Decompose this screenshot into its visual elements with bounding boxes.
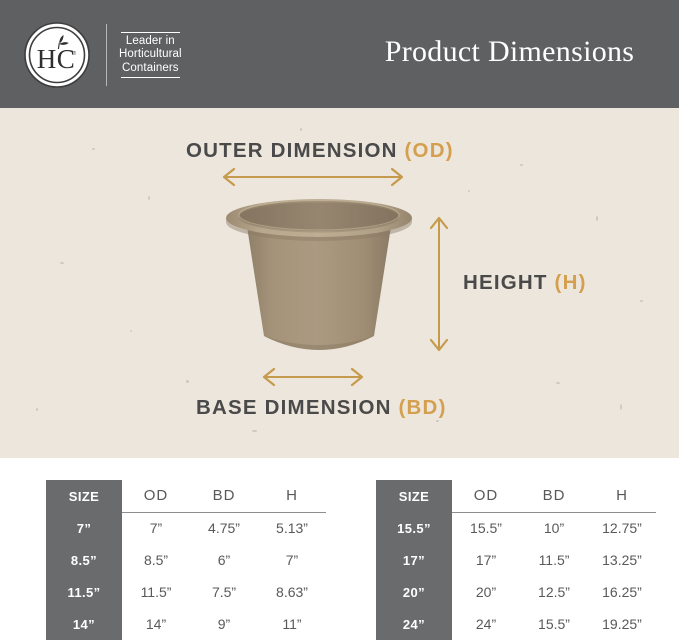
cell-od: 11.5” [122, 576, 190, 608]
table-row: 15.5” 15.5” 10” 12.75” [376, 512, 656, 544]
base-dimension-text: BASE DIMENSION [196, 396, 399, 419]
cell-size: 8.5” [46, 544, 122, 576]
cell-h: 7” [258, 544, 326, 576]
size-chart-left: SIZE OD BD H 7” 7” 4.75” 5.13” 8.5” 8.5”… [46, 480, 326, 640]
column-header-bd: BD [190, 480, 258, 512]
product-dimensions-infographic: HC ® Leader in Horticultural Containers … [0, 0, 679, 636]
column-header-size: SIZE [376, 480, 452, 512]
table-row: 8.5” 8.5” 6” 7” [46, 544, 326, 576]
cell-size: 20” [376, 576, 452, 608]
texture-speck [300, 128, 302, 131]
cell-h: 12.75” [588, 512, 656, 544]
cell-od: 24” [452, 608, 520, 640]
texture-speck [556, 382, 560, 384]
table-row: 11.5” 11.5” 7.5” 8.63” [46, 576, 326, 608]
cell-od: 20” [452, 576, 520, 608]
texture-speck [60, 262, 64, 264]
column-header-h: H [588, 480, 656, 512]
table-row: 17” 17” 11.5” 13.25” [376, 544, 656, 576]
table-row: 24” 24” 15.5” 19.25” [376, 608, 656, 640]
texture-speck [640, 300, 643, 302]
page-title: Product Dimensions [340, 0, 679, 108]
outer-dimension-label: OUTER DIMENSION (OD) [186, 139, 454, 163]
table-row: 7” 7” 4.75” 5.13” [46, 512, 326, 544]
cell-size: 24” [376, 608, 452, 640]
base-dimension-abbr: (BD) [399, 396, 447, 419]
cell-bd: 11.5” [520, 544, 588, 576]
cell-bd: 10” [520, 512, 588, 544]
cell-bd: 15.5” [520, 608, 588, 640]
cell-size: 11.5” [46, 576, 122, 608]
column-header-od: OD [452, 480, 520, 512]
cell-h: 8.63” [258, 576, 326, 608]
outer-dimension-arrow-icon [218, 166, 408, 188]
cell-h: 19.25” [588, 608, 656, 640]
texture-speck [468, 190, 470, 192]
height-abbr: (H) [555, 271, 587, 294]
cell-bd: 12.5” [520, 576, 588, 608]
cell-od: 14” [122, 608, 190, 640]
svg-text:HC: HC [37, 44, 76, 74]
table-row: 20” 20” 12.5” 16.25” [376, 576, 656, 608]
cell-size: 7” [46, 512, 122, 544]
cell-od: 8.5” [122, 544, 190, 576]
table-header-row: SIZE OD BD H [46, 480, 326, 512]
tagline-line-1: Leader in [126, 35, 175, 49]
tagline-line-3: Containers [122, 62, 179, 76]
cell-size: 15.5” [376, 512, 452, 544]
cell-h: 11” [258, 608, 326, 640]
hc-logo-icon: HC ® [22, 20, 92, 90]
cell-bd: 9” [190, 608, 258, 640]
texture-speck [520, 164, 523, 166]
table-row: 14” 14” 9” 11” [46, 608, 326, 640]
texture-speck [148, 196, 150, 200]
outer-dimension-abbr: (OD) [405, 139, 454, 162]
planter-pot-illustration [224, 196, 414, 381]
base-dimension-label: BASE DIMENSION (BD) [196, 396, 447, 420]
texture-speck [92, 148, 95, 150]
column-header-od: OD [122, 480, 190, 512]
outer-dimension-text: OUTER DIMENSION [186, 139, 405, 162]
texture-speck [36, 408, 38, 411]
cell-bd: 6” [190, 544, 258, 576]
height-text: HEIGHT [463, 271, 555, 294]
column-header-h: H [258, 480, 326, 512]
tagline-line-2: Horticultural [119, 48, 182, 62]
cell-od: 7” [122, 512, 190, 544]
cell-size: 14” [46, 608, 122, 640]
texture-speck [186, 380, 189, 383]
logo-divider [106, 24, 107, 86]
table-header-row: SIZE OD BD H [376, 480, 656, 512]
cell-h: 16.25” [588, 576, 656, 608]
texture-speck [436, 420, 439, 422]
column-header-bd: BD [520, 480, 588, 512]
height-arrow-icon [428, 212, 450, 356]
texture-speck [252, 430, 257, 432]
height-label: HEIGHT (H) [463, 271, 587, 295]
header-bar: HC ® Leader in Horticultural Containers … [0, 0, 679, 108]
cell-bd: 7.5” [190, 576, 258, 608]
svg-text:®: ® [73, 50, 77, 57]
size-chart-right: SIZE OD BD H 15.5” 15.5” 10” 12.75” 17” … [376, 480, 656, 640]
cell-h: 5.13” [258, 512, 326, 544]
cell-od: 17” [452, 544, 520, 576]
logo-tagline: Leader in Horticultural Containers [119, 32, 182, 79]
cell-h: 13.25” [588, 544, 656, 576]
cell-size: 17” [376, 544, 452, 576]
texture-speck [130, 330, 132, 332]
column-header-size: SIZE [46, 480, 122, 512]
brand-logo: HC ® Leader in Horticultural Containers [22, 18, 182, 92]
cell-od: 15.5” [452, 512, 520, 544]
texture-speck [596, 216, 598, 221]
cell-bd: 4.75” [190, 512, 258, 544]
base-dimension-arrow-icon [258, 366, 368, 388]
texture-speck [620, 404, 622, 410]
